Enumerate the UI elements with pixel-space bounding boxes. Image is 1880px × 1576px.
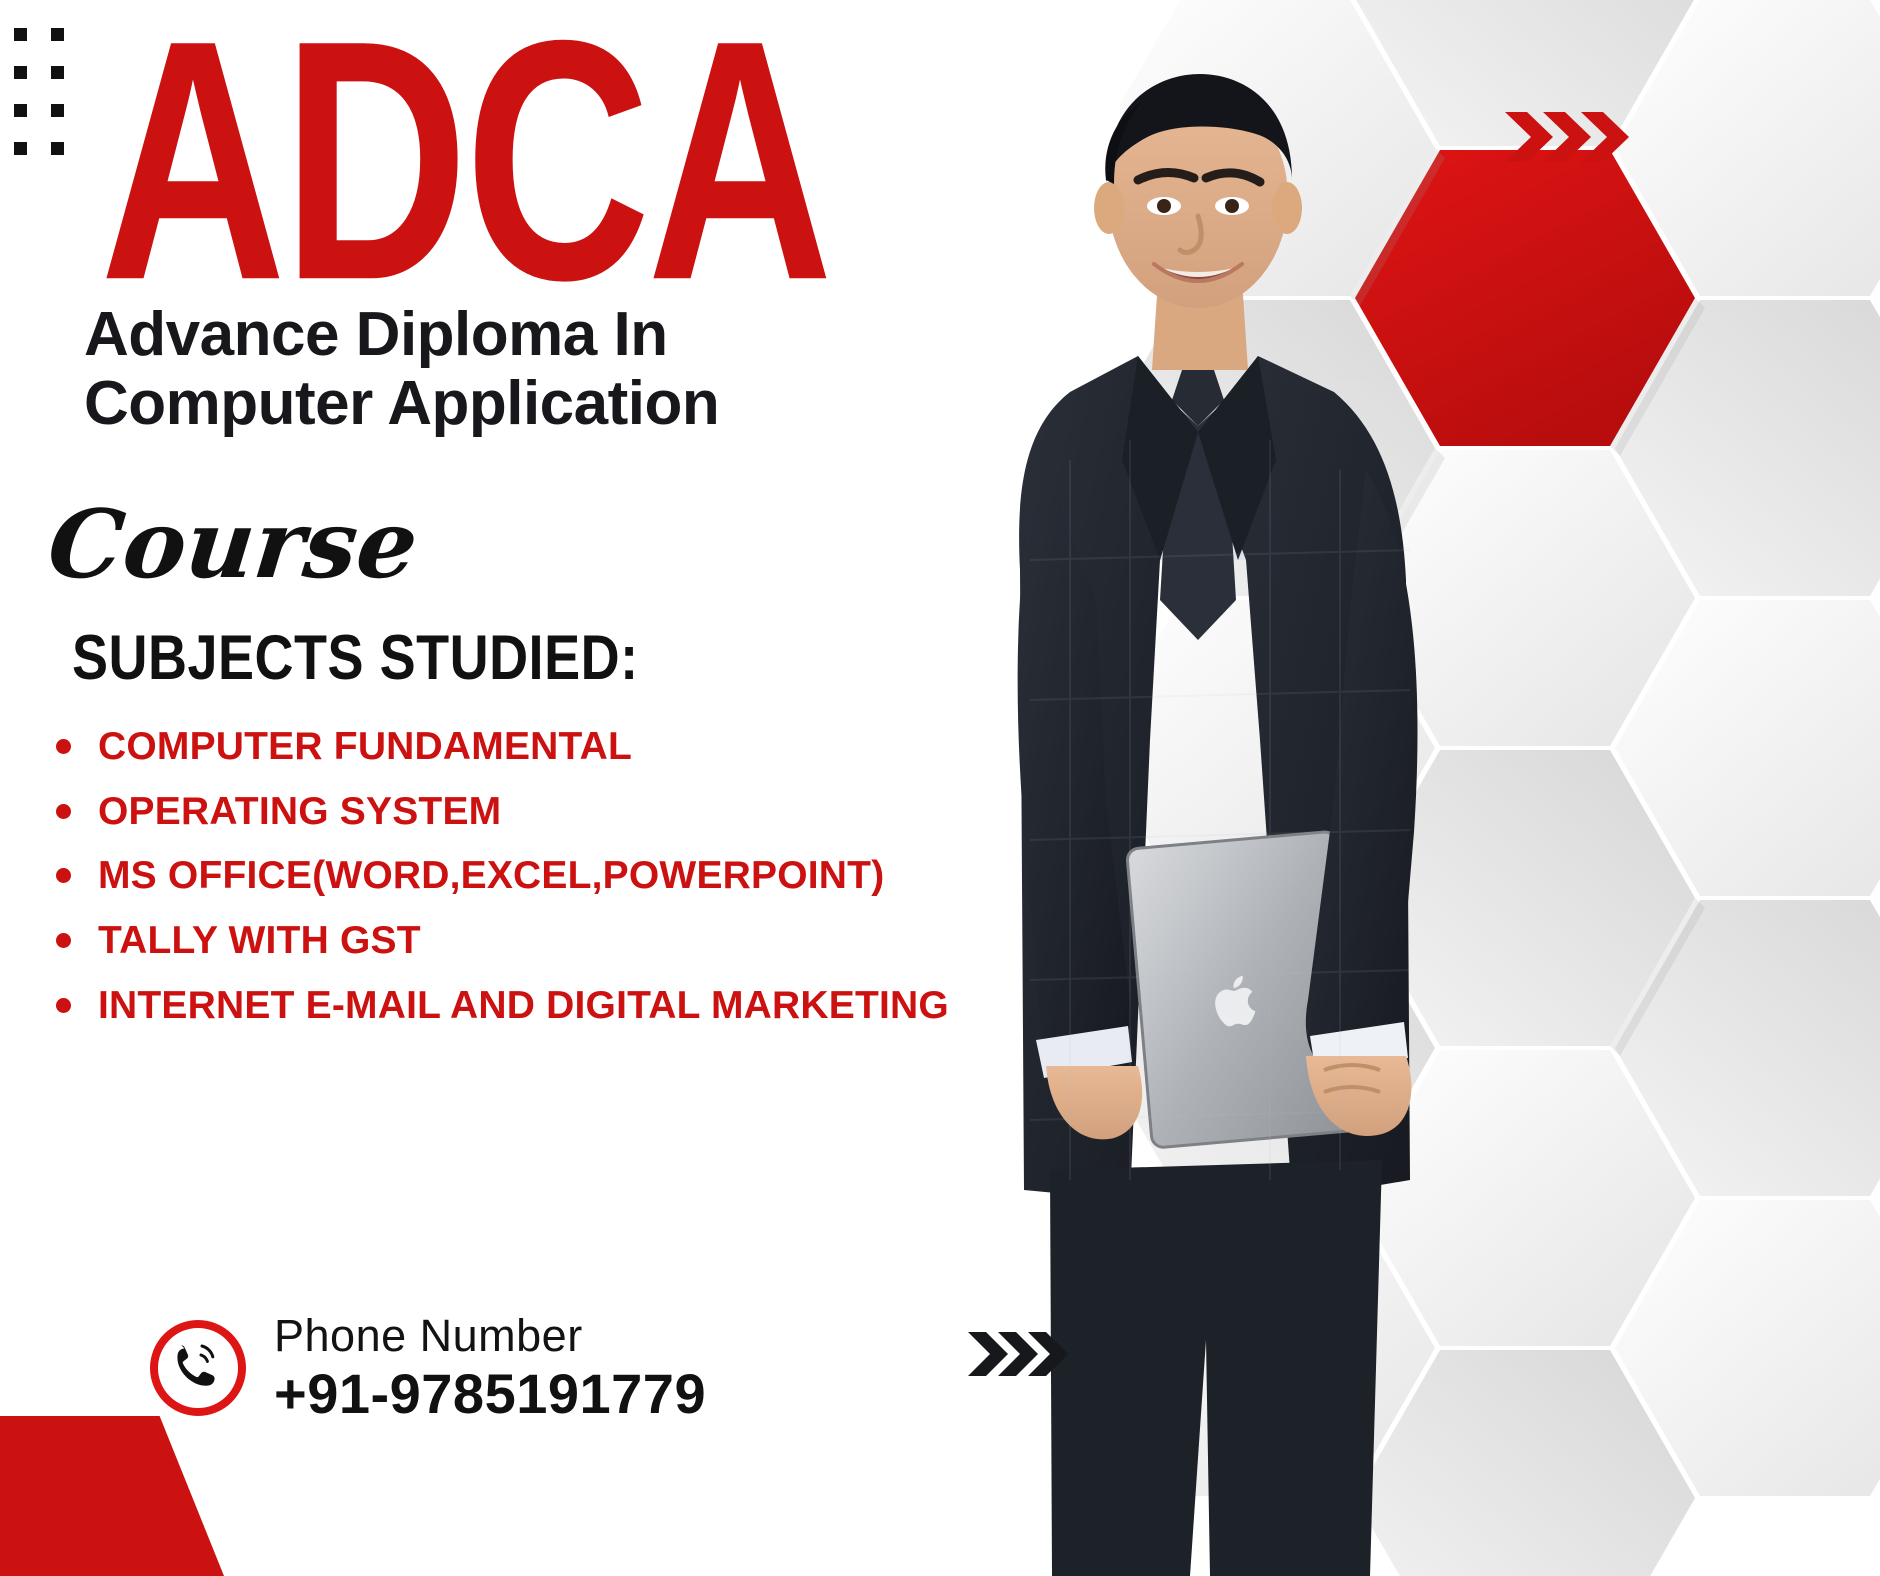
list-item: INTERNET E-MAIL AND DIGITAL MARKETING	[44, 981, 1054, 1032]
content-column: ADCA Advance Diploma In Computer Applica…	[0, 0, 1120, 1576]
subjects-heading: SUBJECTS STUDIED:	[72, 622, 639, 694]
contact-block[interactable]: Phone Number +91-9785191779	[150, 1312, 706, 1425]
contact-text: Phone Number +91-9785191779	[274, 1312, 706, 1425]
subtitle-line-1: Advance Diploma In	[84, 300, 668, 369]
list-item: MS OFFICE(WORD,EXCEL,POWERPOINT)	[44, 851, 1054, 902]
page-title: ADCA	[100, 16, 829, 306]
list-item: OPERATING SYSTEM	[44, 787, 1054, 838]
subjects-list: COMPUTER FUNDAMENTAL OPERATING SYSTEM MS…	[44, 722, 1054, 1045]
phone-label: Phone Number	[274, 1312, 706, 1359]
triple-chevron-right-red-icon	[1505, 110, 1635, 164]
phone-ringing-icon	[150, 1320, 246, 1416]
triple-chevron-right-black-icon	[968, 1330, 1072, 1378]
poster-canvas: ADCA Advance Diploma In Computer Applica…	[0, 0, 1880, 1576]
list-item: COMPUTER FUNDAMENTAL	[44, 722, 1054, 773]
course-script-word: Course	[44, 498, 422, 592]
phone-number[interactable]: +91-9785191779	[274, 1363, 706, 1425]
list-item: TALLY WITH GST	[44, 916, 1054, 967]
subtitle: Advance Diploma In Computer Application	[84, 300, 1084, 439]
subtitle-line-2: Computer Application	[84, 369, 1084, 438]
